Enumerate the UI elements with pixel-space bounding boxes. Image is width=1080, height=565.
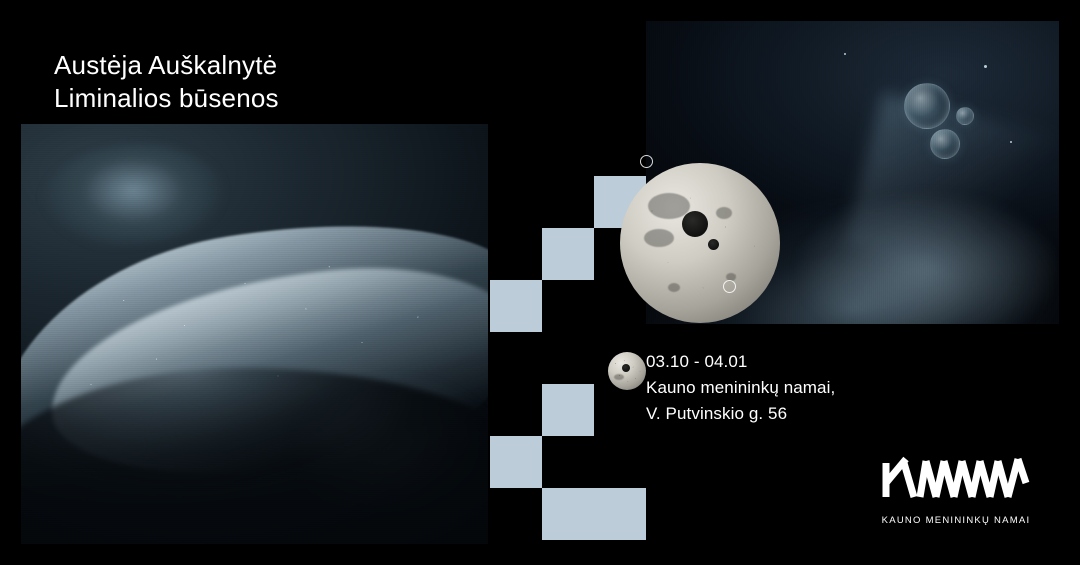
moon-grain [620,163,780,323]
kmn-logo-icon [880,453,1032,506]
left-photo-frost-landscape [21,124,488,544]
poster-canvas: Austėja Auškalnytė Liminalios būsenos 03… [0,0,1080,565]
checker-cell [490,436,542,488]
checker-cell [594,488,646,540]
exhibition-title: Liminalios būsenos [54,82,639,115]
checker-cell [490,228,542,280]
checker-cell [542,176,594,228]
checker-cell [490,488,542,540]
checker-cell [542,488,594,540]
checker-cell [542,228,594,280]
checker-cell [542,436,594,488]
moon-ring-top [640,155,653,168]
checker-cell [542,124,594,176]
venue-address: V. Putvinskio g. 56 [646,401,853,427]
checker-cell [490,332,542,384]
small-sphere-grain [608,352,646,390]
checker-cell [594,436,646,488]
checker-cell [490,124,542,176]
checker-cell [594,384,646,436]
checker-cell [490,280,542,332]
info-block: 03.10 - 04.01 Kauno menininkų namai, V. … [646,330,853,450]
title-block: Austėja Auškalnytė Liminalios būsenos [21,21,639,124]
checker-cell [542,384,594,436]
artist-name: Austėja Auškalnytė [54,21,639,82]
checker-cell [490,384,542,436]
event-dates: 03.10 - 04.01 [646,349,853,375]
checker-cell [490,176,542,228]
logo-block: KAUNO MENININKŲ NAMAI [853,434,1059,544]
checker-cell [542,280,594,332]
moon-ring-bottom [723,280,736,293]
moon-sphere [620,163,780,323]
left-photo-grain [21,124,488,544]
checker-cell [542,332,594,384]
venue-name: Kauno menininkų namai, [646,375,853,401]
logo-caption: KAUNO MENININKŲ NAMAI [882,515,1031,526]
small-sphere [608,352,646,390]
